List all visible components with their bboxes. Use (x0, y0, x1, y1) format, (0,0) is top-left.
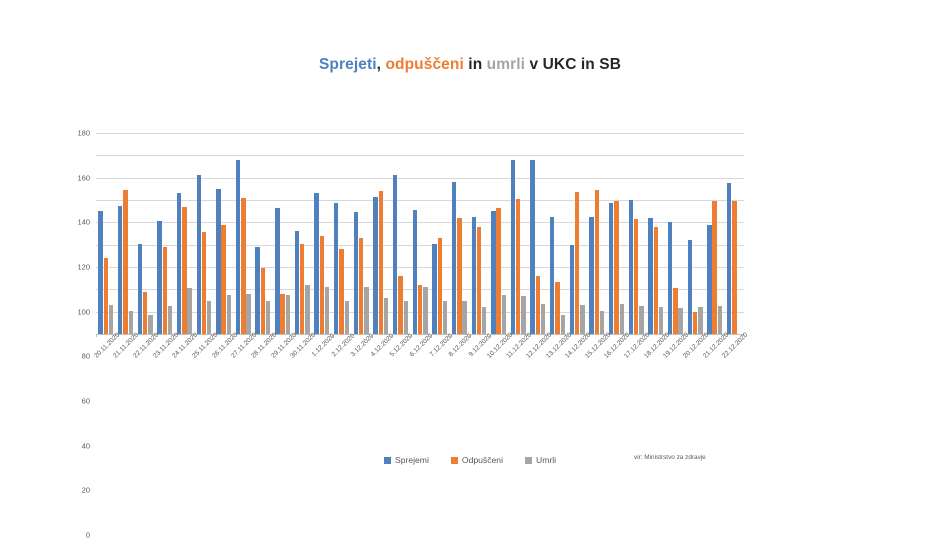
bar-group (135, 133, 155, 334)
bar-group (312, 133, 332, 334)
bar-sprejemi[interactable] (314, 193, 318, 334)
bar-group (233, 133, 253, 334)
bar-sprejemi[interactable] (688, 240, 692, 334)
x-axis-tick: 23.11.2020 (155, 337, 175, 397)
bar-odpuščeni[interactable] (654, 227, 658, 334)
tick-mark (725, 334, 726, 337)
bar-group (567, 133, 587, 334)
bar-sprejemi[interactable] (236, 160, 240, 334)
y-axis-tick-label: 20 (82, 486, 90, 495)
bar-group (116, 133, 136, 334)
bar-odpuščeni[interactable] (182, 207, 186, 334)
source-note: vir: Ministrstvo za zdravje (634, 454, 706, 461)
bar-odpuščeni[interactable] (536, 276, 540, 334)
x-axis-tick: 30.11.2020 (292, 337, 312, 397)
bar-group (410, 133, 430, 334)
legend-label: Odpuščeni (462, 455, 503, 465)
bar-sprejemi[interactable] (255, 247, 259, 334)
tick-mark (214, 334, 215, 337)
x-axis-tick: 14.12.2020 (567, 337, 587, 397)
bar-umrli[interactable] (325, 287, 329, 334)
y-axis-tick-label: 160 (77, 173, 90, 182)
x-axis-tick: 22.11.2020 (135, 337, 155, 397)
tick-mark (253, 334, 254, 337)
bar-sprejemi[interactable] (668, 222, 672, 334)
bar-group (469, 133, 489, 334)
bar-group (214, 133, 234, 334)
bar-odpuščeni[interactable] (398, 276, 402, 334)
bar-sprejemi[interactable] (550, 217, 554, 334)
tick-mark (351, 334, 352, 337)
bar-sprejemi[interactable] (472, 217, 476, 334)
tick-mark (607, 334, 608, 337)
bar-group (332, 133, 352, 334)
bar-sprejemi[interactable] (98, 211, 102, 334)
x-axis-tick: 7.12.2020 (430, 337, 450, 397)
bar-group (96, 133, 116, 334)
bar-group (666, 133, 686, 334)
bar-sprejemi[interactable] (570, 245, 574, 334)
tick-mark (666, 334, 667, 337)
title-segment-suffix: v UKC in SB (525, 56, 621, 73)
x-axis-tick: 21.12.2020 (705, 337, 725, 397)
bar-odpuščeni[interactable] (104, 258, 108, 334)
bar-odpuščeni[interactable] (555, 282, 559, 334)
bar-group (626, 133, 646, 334)
bar-umrli[interactable] (384, 298, 388, 334)
bar-odpuščeni[interactable] (457, 218, 461, 334)
bar-sprejemi[interactable] (707, 225, 711, 334)
bar-group (528, 133, 548, 334)
y-axis-tick-label: 100 (77, 307, 90, 316)
legend-swatch-icon (384, 457, 391, 464)
bar-group (351, 133, 371, 334)
x-axis-tick: 10.12.2020 (489, 337, 509, 397)
legend-swatch-icon (451, 457, 458, 464)
y-axis-tick-label: 60 (82, 397, 90, 406)
legend-swatch-icon (525, 457, 532, 464)
bar-odpuščeni[interactable] (595, 190, 599, 334)
tick-mark (469, 334, 470, 337)
bar-group (508, 133, 528, 334)
bar-group (175, 133, 195, 334)
bar-group (391, 133, 411, 334)
bar-umrli[interactable] (227, 295, 231, 334)
x-axis-tick: 28.11.2020 (253, 337, 273, 397)
x-axis-tick: 21.11.2020 (116, 337, 136, 397)
bar-umrli[interactable] (600, 311, 604, 334)
bar-group (273, 133, 293, 334)
tick-mark (233, 334, 234, 337)
bar-odpuščeni[interactable] (221, 225, 225, 334)
legend-item-sprejemi[interactable]: Sprejemi (384, 455, 429, 465)
tick-mark (548, 334, 549, 337)
bar-groups (96, 133, 744, 334)
bar-sprejemi[interactable] (432, 244, 436, 334)
bar-group (194, 133, 214, 334)
tick-mark (371, 334, 372, 337)
title-segment-sprejeti: Sprejeti (319, 56, 377, 73)
bar-umrli[interactable] (521, 296, 525, 334)
tick-mark (155, 334, 156, 337)
bar-sprejemi[interactable] (452, 182, 456, 334)
bar-sprejemi[interactable] (157, 221, 161, 334)
bar-sprejemi[interactable] (589, 217, 593, 334)
tick-mark (292, 334, 293, 337)
x-axis-tick: 29.11.2020 (273, 337, 293, 397)
tick-mark (273, 334, 274, 337)
bar-umrli[interactable] (286, 295, 290, 334)
bar-odpuščeni[interactable] (496, 208, 500, 334)
bar-umrli[interactable] (345, 301, 349, 335)
title-segment-umrli: umrli (487, 56, 525, 73)
bar-sprejemi[interactable] (648, 218, 652, 334)
bar-group (430, 133, 450, 334)
bar-group (292, 133, 312, 334)
tick-mark (332, 334, 333, 337)
bar-sprejemi[interactable] (491, 211, 495, 334)
tick-mark (705, 334, 706, 337)
x-axis-tick: 20.11.2020 (96, 337, 116, 397)
bar-umrli[interactable] (639, 306, 643, 334)
bar-group (685, 133, 705, 334)
bar-umrli[interactable] (404, 301, 408, 335)
x-axis-tick: 25.11.2020 (194, 337, 214, 397)
bar-umrli[interactable] (678, 308, 682, 334)
bar-odpuščeni[interactable] (634, 219, 638, 334)
bar-umrli[interactable] (266, 301, 270, 335)
legend-item-umrli[interactable]: Umrli (525, 455, 556, 465)
bar-odpuščeni[interactable] (261, 268, 265, 334)
bar-umrli[interactable] (620, 304, 624, 334)
bar-umrli[interactable] (561, 315, 565, 334)
bar-odpuščeni[interactable] (575, 192, 579, 334)
tick-mark (450, 334, 451, 337)
tick-mark (96, 334, 97, 337)
bar-odpuščeni[interactable] (339, 249, 343, 334)
bar-umrli[interactable] (718, 306, 722, 334)
legend-item-odpuščeni[interactable]: Odpuščeni (451, 455, 503, 465)
tick-mark (508, 334, 509, 337)
bar-odpuščeni[interactable] (732, 201, 736, 334)
bar-umrli[interactable] (109, 305, 113, 334)
tick-mark (391, 334, 392, 337)
tick-mark (194, 334, 195, 337)
bar-sprejemi[interactable] (295, 231, 299, 334)
tick-mark (626, 334, 627, 337)
x-axis-tick: 26.11.2020 (214, 337, 234, 397)
bar-odpuščeni[interactable] (379, 191, 383, 334)
bar-odpuščeni[interactable] (241, 198, 245, 334)
x-axis-tick: 15.12.2020 (587, 337, 607, 397)
bar-group (607, 133, 627, 334)
bar-odpuščeni[interactable] (438, 238, 442, 334)
tick-mark (528, 334, 529, 337)
bar-sprejemi[interactable] (629, 200, 633, 334)
tick-mark (410, 334, 411, 337)
x-axis-tick: 5.12.2020 (391, 337, 411, 397)
bar-umrli[interactable] (364, 287, 368, 334)
bar-sprejemi[interactable] (177, 193, 181, 334)
bar-group (253, 133, 273, 334)
bar-sprejemi[interactable] (393, 175, 397, 334)
bar-umrli[interactable] (541, 304, 545, 334)
bar-sprejemi[interactable] (511, 160, 515, 334)
x-axis-tick: 18.12.2020 (646, 337, 666, 397)
tick-mark (646, 334, 647, 337)
plot-area: 180160140120100806040200 (96, 133, 744, 334)
title-separator-2: in (464, 56, 487, 73)
x-axis-tick: 6.12.2020 (410, 337, 430, 397)
x-axis-tick: 13.12.2020 (548, 337, 568, 397)
x-axis-tick: 22.12.2020 (725, 337, 745, 397)
tick-mark (685, 334, 686, 337)
bar-sprejemi[interactable] (197, 175, 201, 334)
bar-umrli[interactable] (305, 285, 309, 334)
x-axis-tick: 9.12.2020 (469, 337, 489, 397)
x-axis-tick: 12.12.2020 (528, 337, 548, 397)
y-axis-tick-label: 120 (77, 263, 90, 272)
x-axis-tick: 11.12.2020 (508, 337, 528, 397)
x-axis-tick: 2.12.2020 (332, 337, 352, 397)
bar-sprejemi[interactable] (216, 189, 220, 334)
bar-group (489, 133, 509, 334)
bar-sprejemi[interactable] (413, 210, 417, 334)
legend-label: Sprejemi (395, 455, 429, 465)
bar-group (646, 133, 666, 334)
tick-mark (587, 334, 588, 337)
title-segment-odpusceni: odpuščeni (385, 56, 463, 73)
bar-sprejemi[interactable] (275, 208, 279, 334)
bar-odpuščeni[interactable] (320, 236, 324, 334)
tick-mark (489, 334, 490, 337)
x-axis-labels: 20.11.202021.11.202022.11.202023.11.2020… (96, 337, 744, 397)
bar-umrli[interactable] (148, 315, 152, 334)
bar-sprejemi[interactable] (727, 183, 731, 334)
x-axis-tick: 17.12.2020 (626, 337, 646, 397)
bar-umrli[interactable] (129, 311, 133, 334)
x-axis-tick: 19.12.2020 (666, 337, 686, 397)
bar-umrli[interactable] (168, 306, 172, 334)
bar-odpuščeni[interactable] (123, 190, 127, 334)
y-axis-tick-label: 180 (77, 129, 90, 138)
bar-umrli[interactable] (580, 305, 584, 334)
bar-odpuščeni[interactable] (280, 294, 284, 334)
bar-group (725, 133, 745, 334)
x-axis-tick: 20.12.2020 (685, 337, 705, 397)
y-axis-tick-label: 80 (82, 352, 90, 361)
chart-container: Sprejeti, odpuščeni in umrli v UKC in SB… (0, 0, 940, 529)
y-axis-tick-label: 140 (77, 218, 90, 227)
bar-odpuščeni[interactable] (300, 244, 304, 334)
bar-odpuščeni[interactable] (163, 247, 167, 334)
bar-umrli[interactable] (659, 307, 663, 334)
bar-umrli[interactable] (207, 301, 211, 335)
x-axis-tick: 24.11.2020 (175, 337, 195, 397)
bar-sprejemi[interactable] (530, 160, 534, 334)
bar-odpuščeni[interactable] (418, 285, 422, 334)
tick-mark (175, 334, 176, 337)
x-axis-tick: 27.11.2020 (233, 337, 253, 397)
bar-odpuščeni[interactable] (614, 201, 618, 334)
bar-group (371, 133, 391, 334)
bar-umrli[interactable] (462, 301, 466, 335)
bar-sprejemi[interactable] (334, 203, 338, 334)
bar-odpuščeni[interactable] (516, 199, 520, 334)
bar-group (587, 133, 607, 334)
bar-group (548, 133, 568, 334)
bar-umrli[interactable] (698, 307, 702, 334)
bar-group (450, 133, 470, 334)
tick-mark (116, 334, 117, 337)
bar-sprejemi[interactable] (138, 244, 142, 334)
tick-mark (135, 334, 136, 337)
tick-mark (567, 334, 568, 337)
bar-odpuščeni[interactable] (693, 312, 697, 334)
y-axis-tick-label: 40 (82, 441, 90, 450)
bar-group (155, 133, 175, 334)
legend-label: Umrli (536, 455, 556, 465)
bar-umrli[interactable] (187, 288, 191, 334)
bar-odpuščeni[interactable] (712, 201, 716, 334)
bar-sprejemi[interactable] (609, 203, 613, 334)
bar-odpuščeni[interactable] (673, 288, 677, 334)
bar-odpuščeni[interactable] (477, 227, 481, 334)
x-axis-tick: 8.12.2020 (450, 337, 470, 397)
tick-mark (312, 334, 313, 337)
x-axis-tick: 16.12.2020 (607, 337, 627, 397)
bar-odpuščeni[interactable] (359, 238, 363, 334)
tick-mark (430, 334, 431, 337)
x-axis-tick: 1.12.2020 (312, 337, 332, 397)
bar-sprejemi[interactable] (118, 206, 122, 334)
chart-legend: SprejemiOdpuščeniUmrli (0, 455, 940, 465)
bar-group (705, 133, 725, 334)
bar-odpuščeni[interactable] (202, 232, 206, 334)
x-axis-tick: 3.12.2020 (351, 337, 371, 397)
bar-umrli[interactable] (246, 294, 250, 334)
bar-sprejemi[interactable] (354, 212, 358, 334)
y-axis-tick-label: 0 (86, 531, 90, 540)
bar-umrli[interactable] (443, 301, 447, 335)
bar-umrli[interactable] (482, 307, 486, 334)
bar-odpuščeni[interactable] (143, 292, 147, 334)
x-axis-tick: 4.12.2020 (371, 337, 391, 397)
bar-umrli[interactable] (502, 295, 506, 334)
bar-umrli[interactable] (423, 287, 427, 334)
chart-title: Sprejeti, odpuščeni in umrli v UKC in SB (0, 56, 940, 74)
bar-sprejemi[interactable] (373, 197, 377, 334)
